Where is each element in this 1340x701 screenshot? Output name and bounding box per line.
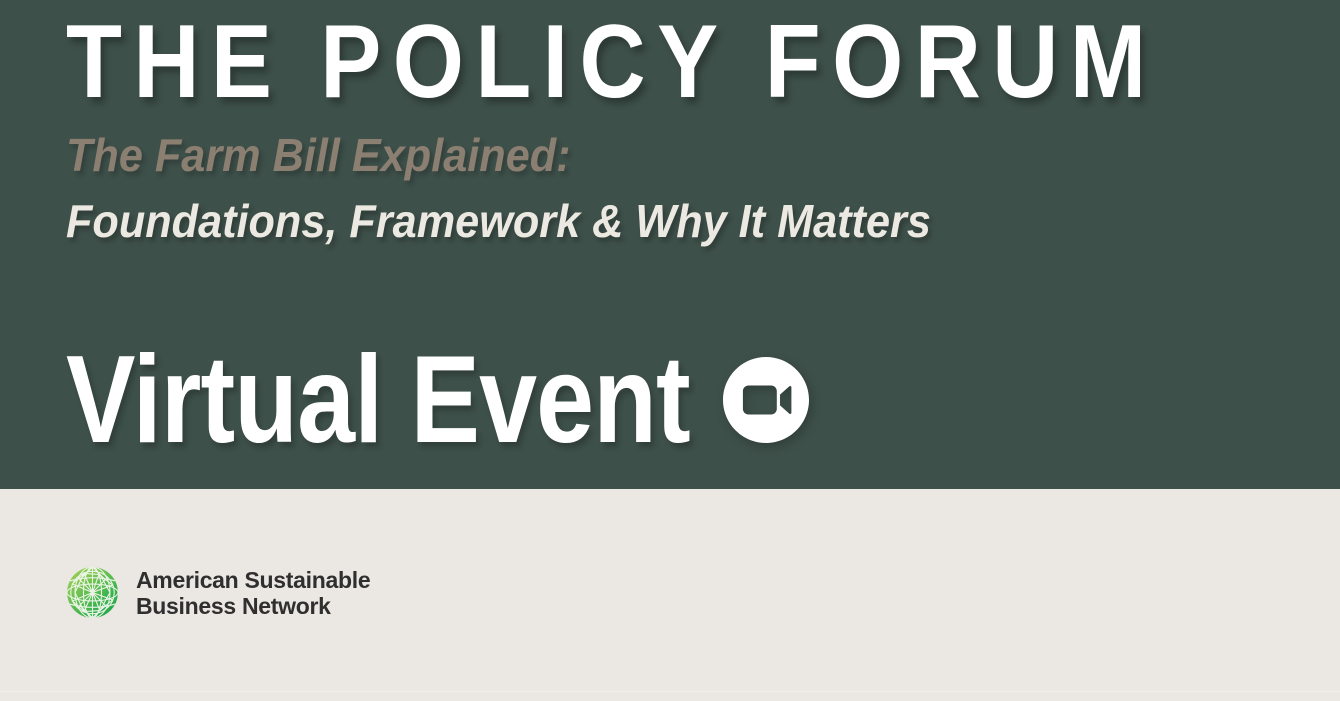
hero-banner: THE POLICY FORUM The Farm Bill Explained… bbox=[0, 0, 1340, 489]
organization-name-line-2: Business Network bbox=[136, 593, 370, 619]
video-camera-icon bbox=[723, 357, 809, 443]
event-subtitle-secondary: Foundations, Framework & Why It Matters bbox=[66, 195, 931, 247]
page-title: THE POLICY FORUM bbox=[66, 8, 1158, 116]
organization-name: American Sustainable Business Network bbox=[136, 567, 370, 619]
footer-divider bbox=[0, 691, 1340, 692]
organization-logo: American Sustainable Business Network bbox=[66, 566, 370, 619]
event-format-label: Virtual Event bbox=[66, 338, 690, 462]
event-poster: THE POLICY FORUM The Farm Bill Explained… bbox=[0, 0, 1340, 701]
organization-name-line-1: American Sustainable bbox=[136, 567, 370, 593]
event-format-row: Virtual Event bbox=[66, 338, 809, 462]
event-subtitle-primary: The Farm Bill Explained: bbox=[66, 129, 571, 181]
globe-sphere-logo-icon bbox=[66, 566, 119, 619]
